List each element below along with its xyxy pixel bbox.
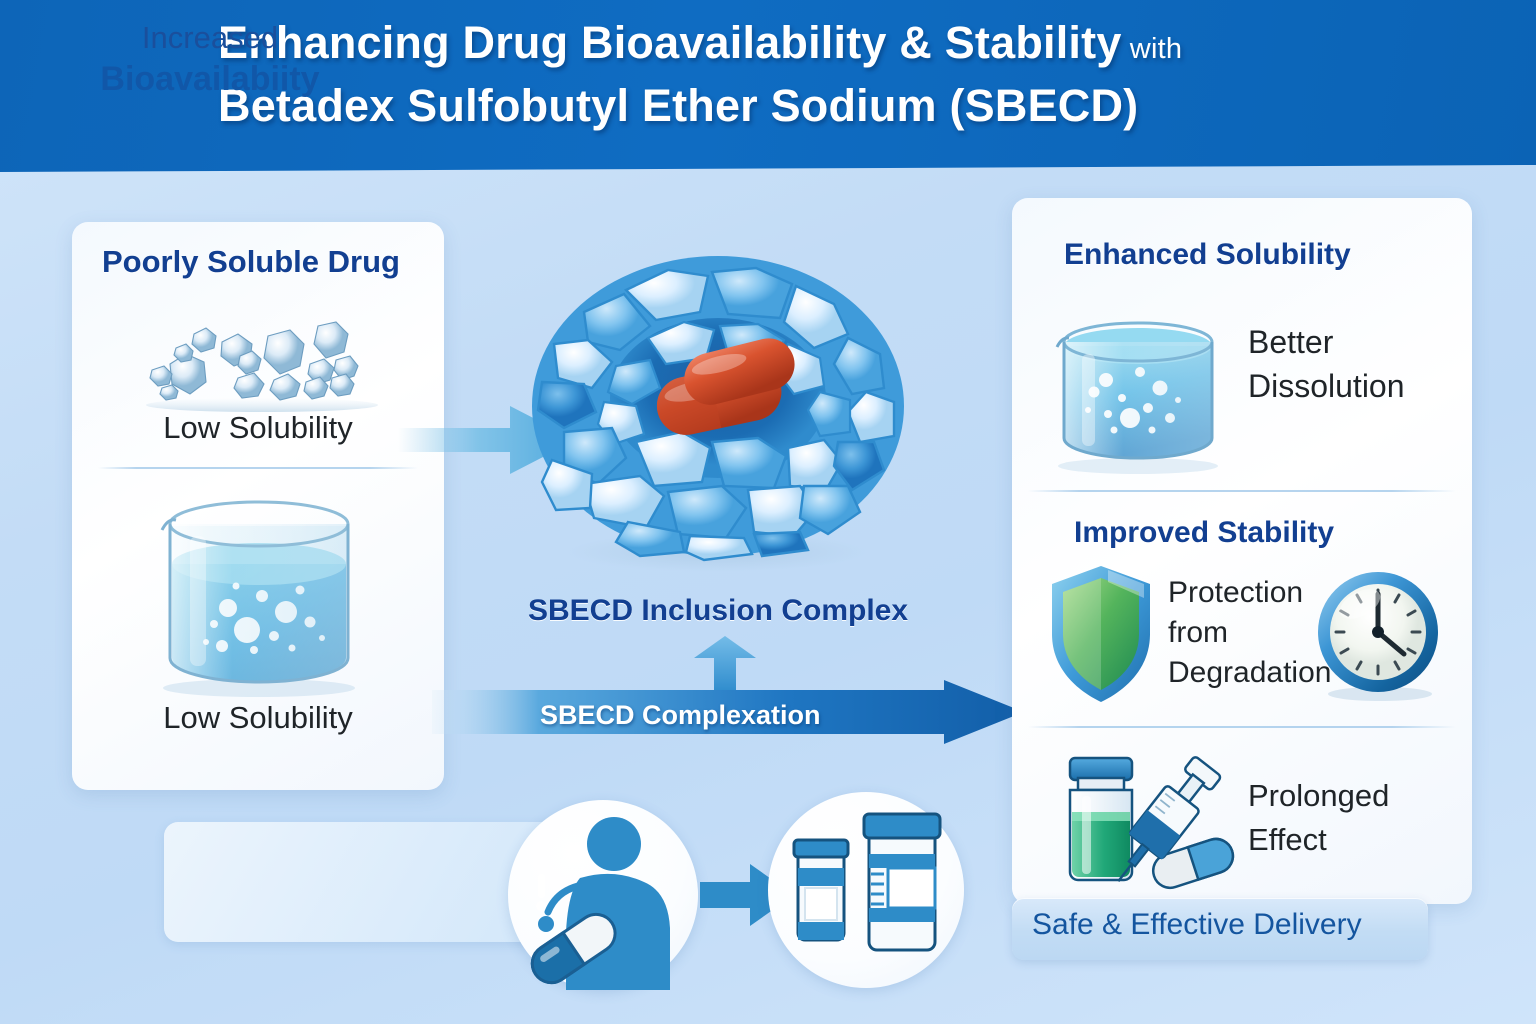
left-panel-item2-label: Low Solubility: [72, 700, 444, 736]
benefit-label-better: Better: [1248, 324, 1333, 361]
vial-syringe-capsule-icon: [1048, 746, 1268, 906]
benefit-title-improved-stability: Improved Stability: [1074, 516, 1334, 550]
benefits-panel: Enhanced Solubility: [1012, 198, 1472, 904]
bioavailability-label-line2: Bioavailabiity: [0, 60, 420, 99]
drug-crystal-particles-icon: [122, 304, 402, 414]
left-panel-divider: [98, 467, 418, 469]
clock-icon: [1312, 570, 1444, 702]
benefit-label-protection: Protection: [1168, 576, 1303, 610]
left-panel-title: Poorly Soluble Drug: [102, 244, 400, 280]
benefit-label-degradation: Degradation: [1168, 656, 1331, 690]
safe-delivery-banner-label: Safe & Effective Delivery: [1032, 908, 1432, 942]
right-panel-divider-1: [1028, 490, 1456, 492]
complexation-arrow-label: SBECD Complexation: [540, 700, 940, 731]
infographic-canvas: Enhancing Drug Bioavailability & Stabili…: [0, 0, 1536, 1024]
benefit-label-dissolution: Dissolution: [1248, 368, 1405, 405]
beaker-dissolved-icon: [1048, 284, 1228, 474]
poorly-soluble-drug-panel: Poorly Soluble Drug: [72, 222, 444, 790]
center-complex-caption: SBECD Inclusion Complex: [508, 594, 928, 628]
left-panel-item1-label: Low Solubility: [72, 410, 444, 446]
benefit-label-from: from: [1168, 616, 1228, 650]
beaker-with-undissolved-particles-icon: [150, 490, 368, 698]
sbecd-cyclodextrin-torus-icon: [508, 246, 928, 576]
benefit-label-effect: Effect: [1248, 822, 1327, 858]
benefit-title-enhanced-solubility: Enhanced Solubility: [1064, 238, 1351, 272]
shield-icon: [1046, 564, 1156, 706]
right-panel-divider-2: [1028, 726, 1456, 728]
drug-vials-icon: [768, 792, 964, 988]
benefit-label-prolonged: Prolonged: [1248, 778, 1389, 814]
page-title-line1-suffix: with: [1122, 33, 1183, 65]
bioavailability-label-line1: Increased: [0, 20, 420, 56]
patient-silhouette-icon: [508, 800, 698, 990]
